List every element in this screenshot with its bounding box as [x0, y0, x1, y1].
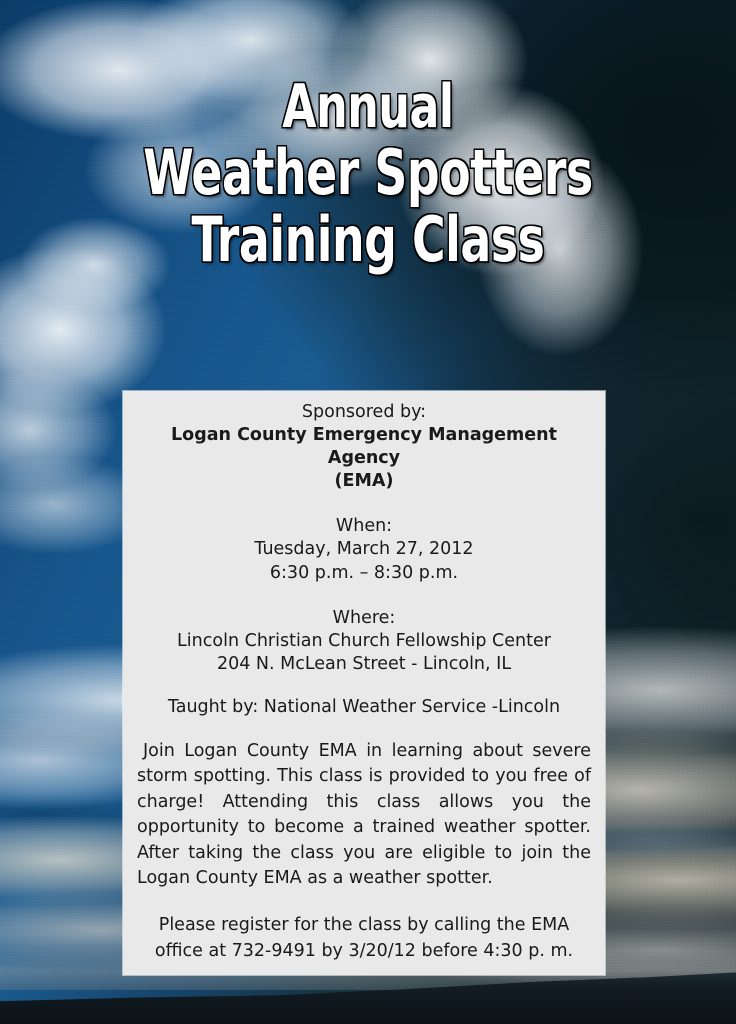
- poster-title: Annual Weather Spotters Training Class: [0, 78, 736, 270]
- poster-flyer: Annual Weather Spotters Training Class S…: [0, 0, 736, 1024]
- spacer-after-where: [137, 676, 591, 696]
- sponsor-name: Logan County Emergency Management Agency: [137, 424, 591, 470]
- title-line-1: Annual: [66, 78, 670, 137]
- when-label: When:: [137, 515, 591, 538]
- when-time: 6:30 p.m. – 8:30 p.m.: [137, 562, 591, 585]
- sponsored-by-label: Sponsored by:: [137, 401, 591, 424]
- body-paragraph: Join Logan County EMA in learning about …: [137, 739, 591, 891]
- when-date: Tuesday, March 27, 2012: [137, 538, 591, 561]
- taught-by-line: Taught by: National Weather Service -Lin…: [137, 696, 591, 719]
- title-line-3: Training Class: [66, 210, 670, 271]
- spacer-after-taught-by: [137, 719, 591, 739]
- sponsor-abbrev: (EMA): [137, 470, 591, 493]
- spacer-after-body: [137, 891, 591, 913]
- spacer-after-when: [137, 585, 591, 607]
- title-line-2: Weather Spotters: [66, 143, 670, 204]
- where-address: 204 N. McLean Street - Lincoln, IL: [137, 653, 591, 676]
- info-panel: Sponsored by: Logan County Emergency Man…: [123, 391, 605, 975]
- where-label: Where:: [137, 607, 591, 630]
- spacer-after-sponsor: [137, 493, 591, 515]
- register-paragraph: Please register for the class by calling…: [137, 913, 591, 964]
- where-venue: Lincoln Christian Church Fellowship Cent…: [137, 630, 591, 653]
